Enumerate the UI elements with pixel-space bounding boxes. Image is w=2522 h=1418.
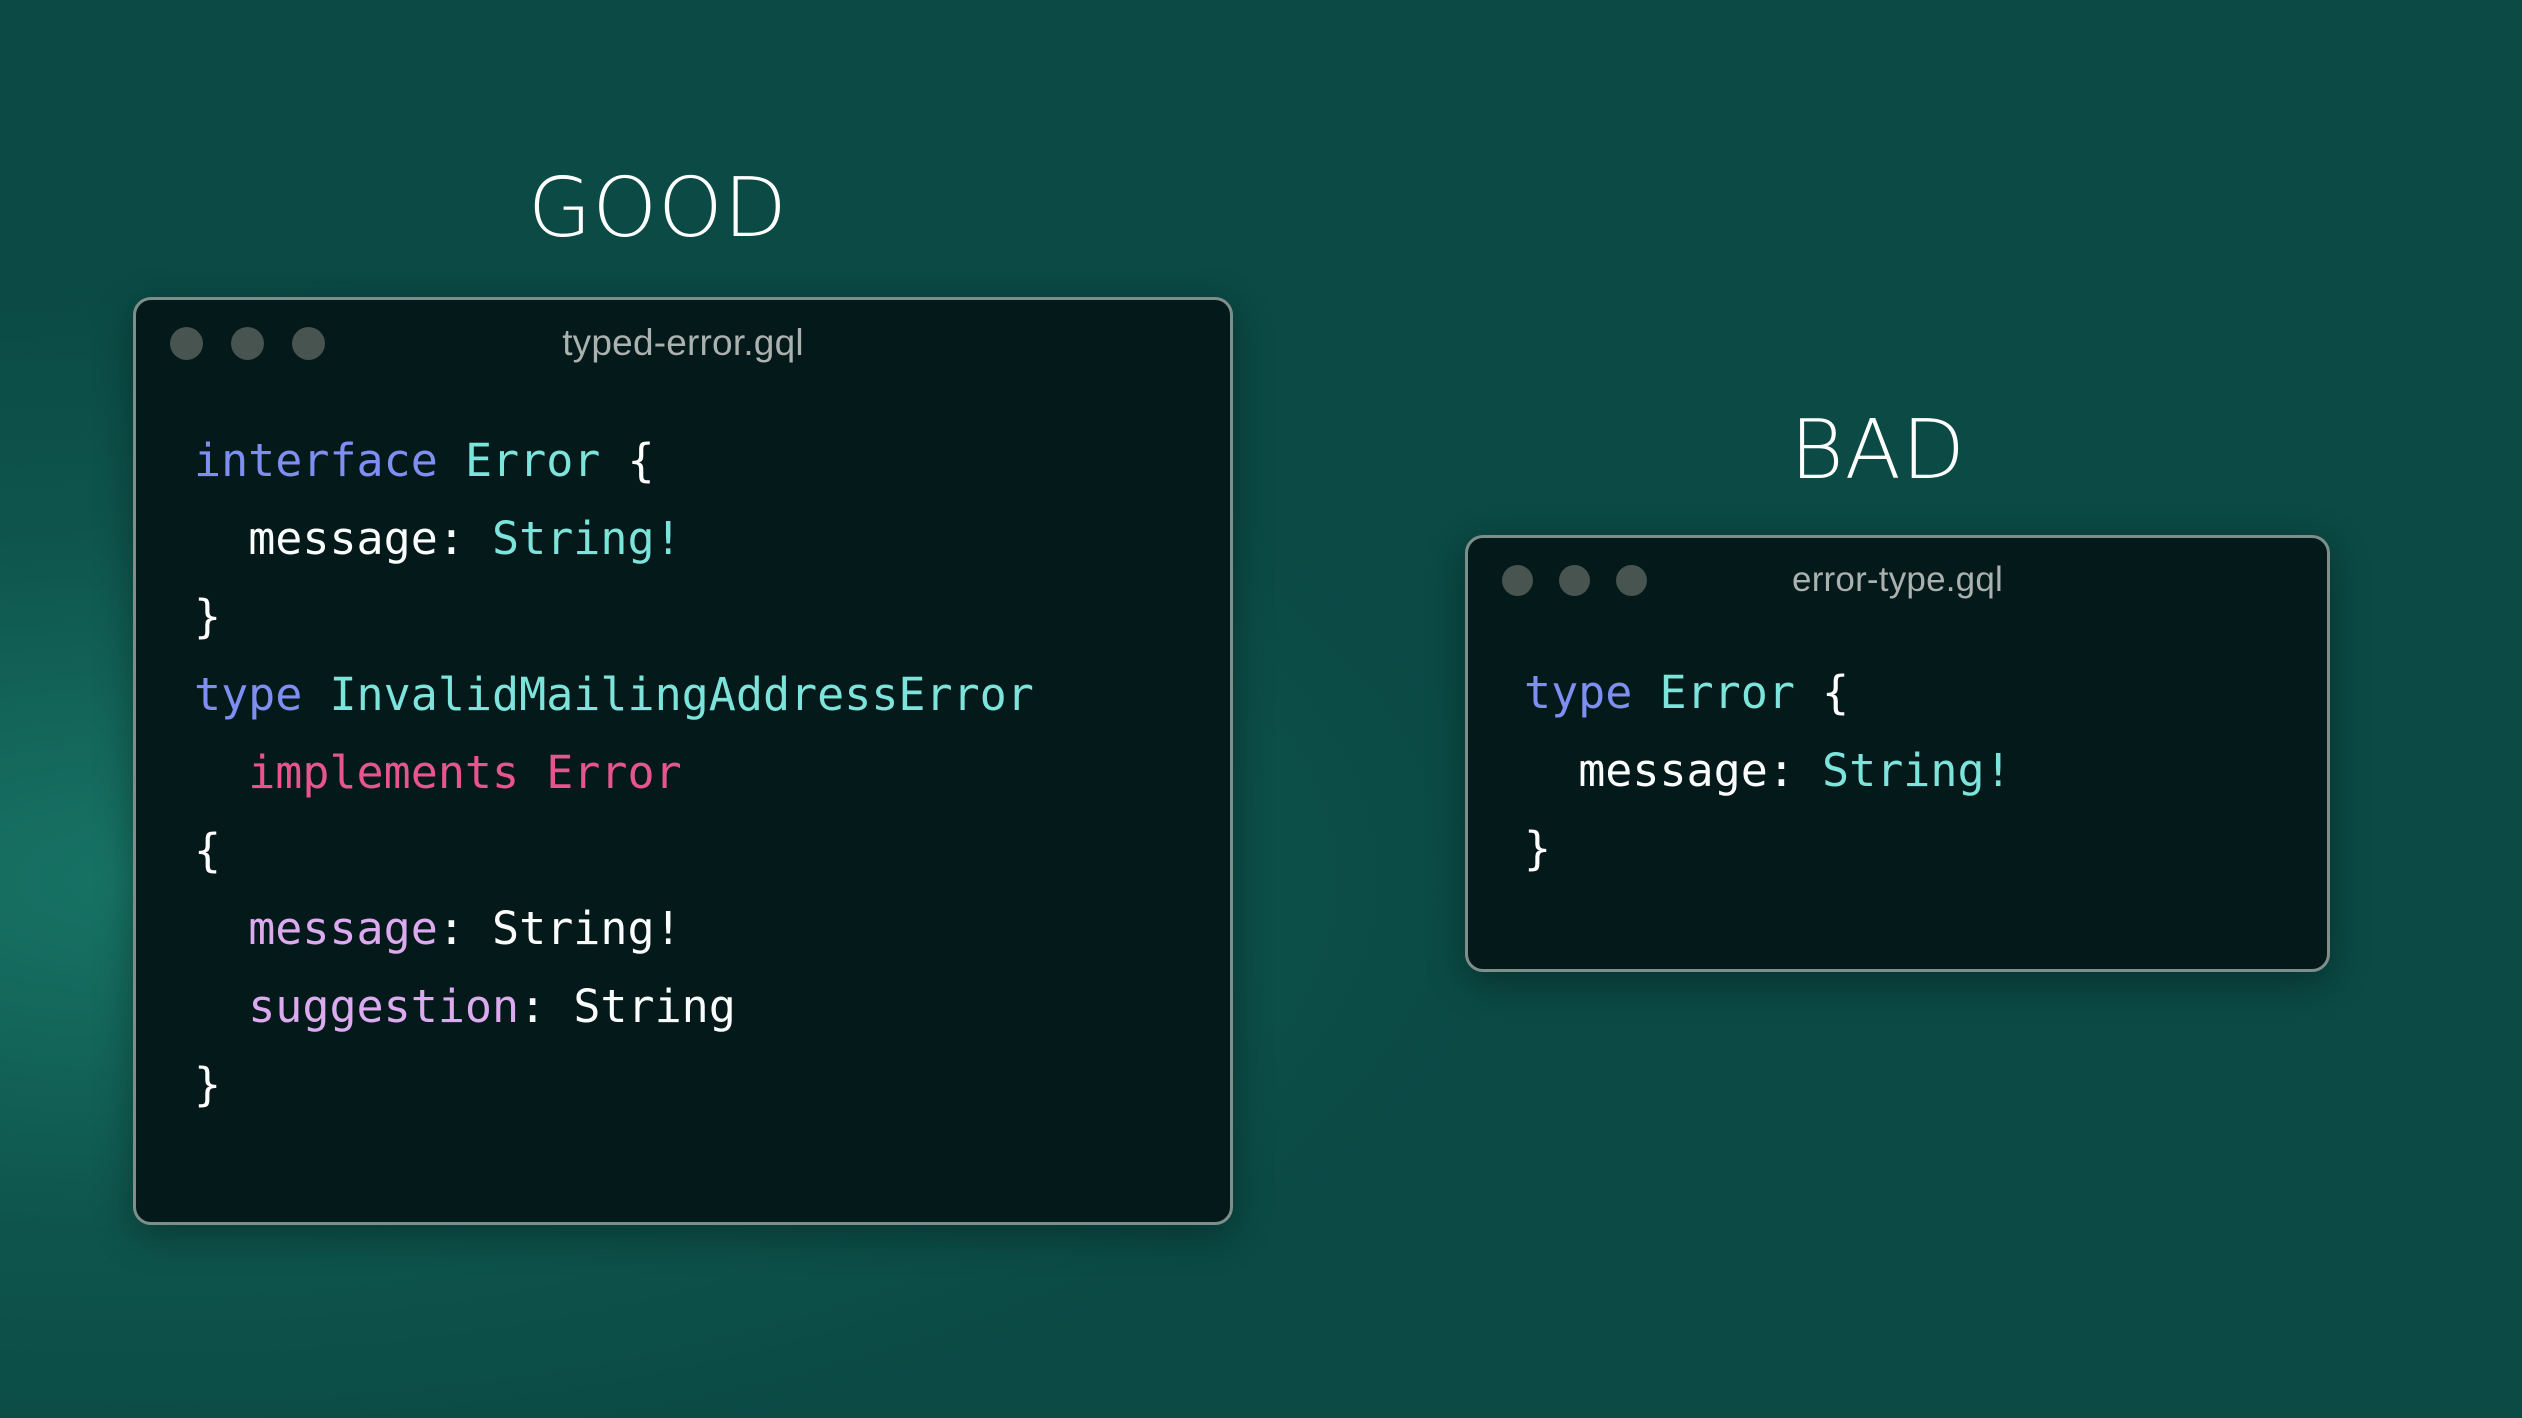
code-token: type <box>1524 666 1632 719</box>
code-token <box>600 434 627 487</box>
code-line: suggestion: String <box>194 968 1230 1046</box>
code-token: String! <box>492 902 682 955</box>
code-token <box>1795 666 1822 719</box>
code-token <box>194 902 248 955</box>
good-window-filename: typed-error.gql <box>136 322 1230 364</box>
good-code-block: interface Error { message: String!}type … <box>194 422 1230 1124</box>
code-line: message: String! <box>1524 732 2327 810</box>
code-token: String <box>573 980 736 1033</box>
code-token: type <box>194 668 302 721</box>
code-token: { <box>194 824 221 877</box>
bad-window-titlebar: error-type.gql <box>1468 538 2327 622</box>
code-token: InvalidMailingAddressError <box>329 668 1033 721</box>
code-line: interface Error { <box>194 422 1230 500</box>
code-token <box>438 434 465 487</box>
code-token: } <box>194 590 221 643</box>
code-token: { <box>628 434 655 487</box>
code-token: : <box>1768 744 1822 797</box>
code-token: } <box>1524 822 1551 875</box>
code-line: message: String! <box>194 500 1230 578</box>
code-token: String! <box>1822 744 2012 797</box>
code-line: type InvalidMailingAddressError <box>194 656 1230 734</box>
good-code-window: typed-error.gql interface Error { messag… <box>133 297 1233 1225</box>
code-token: Error <box>465 434 600 487</box>
bad-label: BAD <box>1790 410 1966 492</box>
code-token: message <box>1578 744 1768 797</box>
code-line: } <box>194 578 1230 656</box>
code-token <box>194 512 248 565</box>
bad-code-block: type Error { message: String!} <box>1524 654 2327 888</box>
bad-code-window: error-type.gql type Error { message: Str… <box>1465 535 2330 972</box>
code-token <box>194 980 248 1033</box>
code-token: suggestion <box>248 980 519 1033</box>
code-line: type Error { <box>1524 654 2327 732</box>
code-token: } <box>194 1058 221 1111</box>
code-line: implements Error <box>194 734 1230 812</box>
code-token: message <box>248 902 438 955</box>
code-token: Error <box>1659 666 1794 719</box>
code-token: String! <box>492 512 682 565</box>
code-token: message <box>248 512 438 565</box>
good-label: GOOD <box>528 168 788 250</box>
code-token <box>1632 666 1659 719</box>
code-token: : <box>519 980 573 1033</box>
code-token: : <box>438 512 492 565</box>
code-line: } <box>1524 810 2327 888</box>
code-token: : <box>438 902 492 955</box>
code-line: { <box>194 812 1230 890</box>
code-token <box>194 746 248 799</box>
good-window-titlebar: typed-error.gql <box>136 300 1230 386</box>
code-line: } <box>194 1046 1230 1124</box>
code-token <box>302 668 329 721</box>
code-token <box>1524 744 1578 797</box>
code-token: interface <box>194 434 438 487</box>
code-token: implements Error <box>248 746 681 799</box>
code-line: message: String! <box>194 890 1230 968</box>
bad-window-filename: error-type.gql <box>1468 560 2327 600</box>
code-token: { <box>1822 666 1849 719</box>
